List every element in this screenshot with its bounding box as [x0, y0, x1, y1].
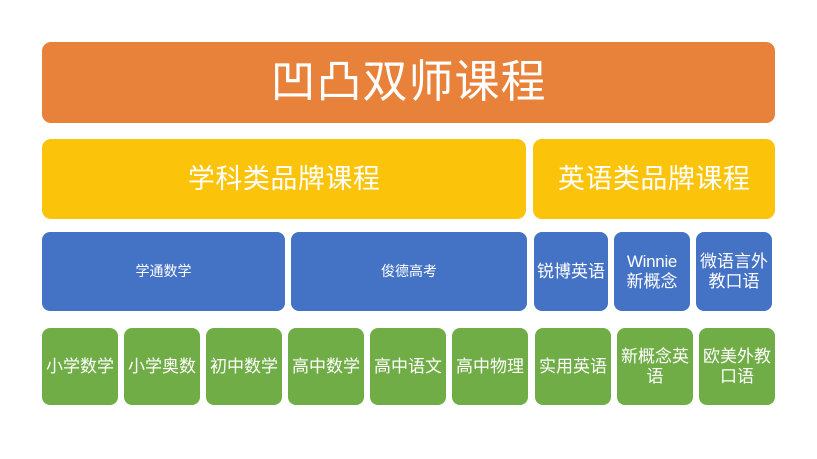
title-row: 凹凸双师课程	[42, 42, 775, 123]
brand-node-xuetong-math[interactable]: 学通数学	[42, 232, 285, 311]
course-node-primary-olympiad[interactable]: 小学奥数	[124, 328, 200, 405]
brand-node-winnie-new-concept[interactable]: Winnie 新概念	[614, 232, 690, 311]
course-node-new-concept-english[interactable]: 新概念英语	[617, 328, 693, 405]
brand-node-ruibo-english[interactable]: 锐博英语	[534, 232, 608, 311]
course-node-western-oral[interactable]: 欧美外教口语	[699, 328, 775, 405]
category-node-subject[interactable]: 学科类品牌课程	[42, 139, 526, 219]
category-node-english[interactable]: 英语类品牌课程	[533, 139, 775, 219]
course-node-senior-math[interactable]: 高中数学	[288, 328, 364, 405]
course-hierarchy-diagram: 凹凸双师课程 学科类品牌课程 英语类品牌课程 学通数学 俊德高考 锐博英语 Wi…	[0, 0, 817, 459]
row-divider	[527, 232, 534, 311]
brand-node-winnie-line1: Winnie	[627, 252, 678, 271]
course-node-junior-math[interactable]: 初中数学	[206, 328, 282, 405]
course-node-primary-math[interactable]: 小学数学	[42, 328, 118, 405]
row-divider	[528, 328, 535, 405]
brand-row: 学通数学 俊德高考 锐博英语 Winnie 新概念 微语言外教口语	[42, 232, 775, 311]
brand-node-weiyuyan-oral[interactable]: 微语言外教口语	[696, 232, 772, 311]
diagram-title: 凹凸双师课程	[42, 42, 775, 123]
brand-node-winnie-line2: 新概念	[627, 272, 678, 291]
row-divider	[526, 139, 533, 219]
category-row: 学科类品牌课程 英语类品牌课程	[42, 139, 775, 219]
course-node-senior-chinese[interactable]: 高中语文	[370, 328, 446, 405]
course-node-senior-physics[interactable]: 高中物理	[452, 328, 528, 405]
brand-node-junde-gaokao[interactable]: 俊德高考	[291, 232, 527, 311]
course-node-practical-english[interactable]: 实用英语	[535, 328, 611, 405]
course-row: 小学数学 小学奥数 初中数学 高中数学 高中语文 高中物理 实用英语 新概念英语…	[42, 328, 775, 405]
